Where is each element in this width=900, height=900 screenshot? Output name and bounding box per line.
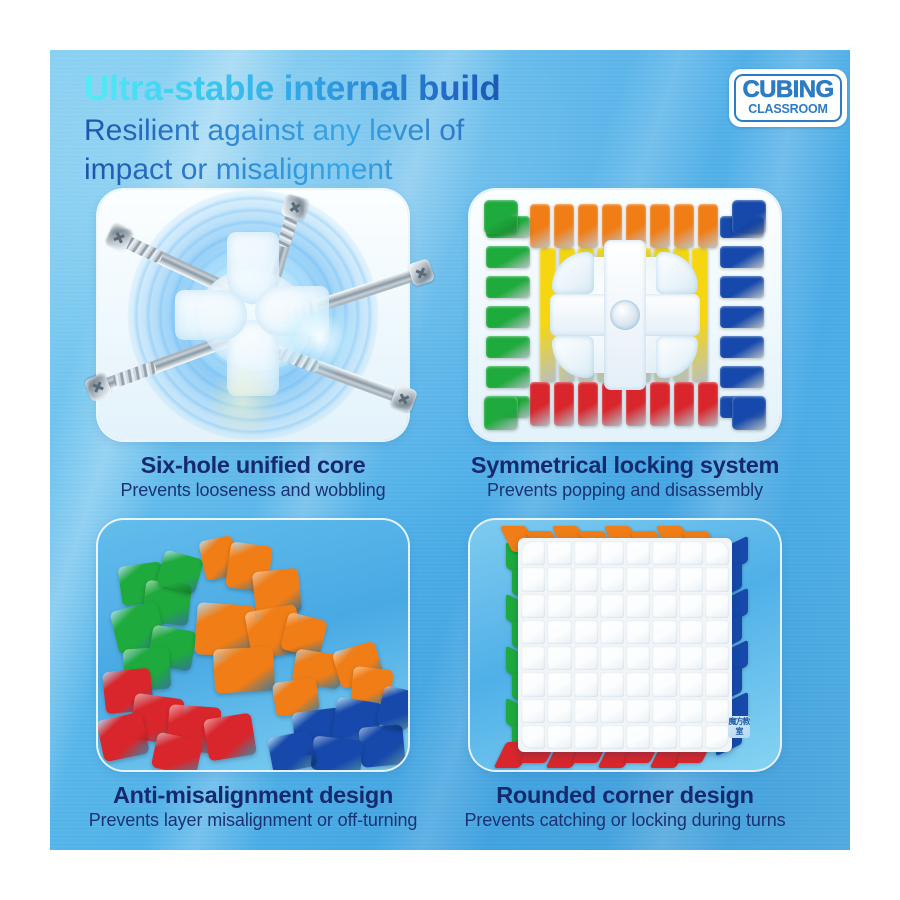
cube-tile [600, 567, 624, 591]
cube-tile [679, 541, 703, 565]
cube-tile [626, 541, 650, 565]
core-lobe-left [175, 290, 247, 340]
caption-title: Six-hole unified core [78, 452, 428, 478]
cube-tile [600, 541, 624, 565]
cube-tile [626, 672, 650, 696]
cube-tile [547, 646, 571, 670]
brand-logo-badge: CUBING CLASSROOM [734, 74, 842, 122]
rounded-corner-photo: 魔方教室 [470, 520, 780, 770]
cube-tile [547, 620, 571, 644]
exploded-cube-piece [486, 366, 530, 388]
exploded-cube-piece [486, 276, 530, 298]
exploded-cube-piece [650, 382, 670, 426]
cube-tile [679, 567, 703, 591]
cube-tile [574, 646, 598, 670]
cube-tile [521, 672, 545, 696]
cube-tile [574, 594, 598, 618]
caption-rounded-corner: Rounded corner design Prevents catching … [450, 782, 800, 832]
brand-logo-line-1: CUBING [742, 79, 833, 102]
exploded-cube-piece [732, 200, 766, 234]
caption-subtitle: Prevents layer misalignment or off-turni… [78, 810, 428, 832]
cube-tile [705, 567, 729, 591]
subtitle-line-1: Resilient against any level of [84, 111, 704, 150]
scattered-cube-piece [310, 735, 363, 770]
cube-tile [574, 541, 598, 565]
cube-tile [705, 725, 729, 749]
caption-symmetrical-locking: Symmetrical locking system Prevents popp… [450, 452, 800, 502]
exploded-cube-piece [530, 204, 550, 248]
cube-core-body [193, 246, 313, 384]
cube-tile [626, 725, 650, 749]
cube-tile [600, 672, 624, 696]
caption-subtitle: Prevents popping and disassembly [450, 480, 800, 502]
cube-tile [705, 620, 729, 644]
cube-tile [574, 672, 598, 696]
cube-tile [521, 699, 545, 723]
cube-tile [600, 646, 624, 670]
page-subtitle: Resilient against any level of impact or… [84, 111, 704, 189]
cube-tile [652, 672, 676, 696]
cube-tile [652, 567, 676, 591]
cube-tile [705, 594, 729, 618]
caption-subtitle: Prevents catching or locking during turn… [450, 810, 800, 832]
cube-tile [652, 646, 676, 670]
exploded-cube-piece [720, 306, 764, 328]
cube-tile [547, 672, 571, 696]
locking-hub [610, 300, 640, 330]
caption-title: Anti-misalignment design [78, 782, 428, 808]
cube-tile [574, 567, 598, 591]
caption-subtitle: Prevents looseness and wobbling [78, 480, 428, 502]
exploded-cube-piece [720, 276, 764, 298]
subtitle-line-2: impact or misalignment [84, 150, 704, 189]
cube-tile [547, 725, 571, 749]
cube-tile [521, 541, 545, 565]
exploded-cube-piece [720, 246, 764, 268]
cube-tile [547, 699, 571, 723]
symmetrical-locking-photo [470, 190, 780, 440]
feature-card-rounded-corner: 魔方教室 Rounded corner design Prevents catc… [450, 520, 800, 832]
feature-card-anti-misalignment: Anti-misalignment design Prevents layer … [78, 520, 428, 832]
cube-tile [679, 725, 703, 749]
cube-tile [574, 725, 598, 749]
brand-logo-line-2: CLASSROOM [748, 103, 827, 117]
cube-tile [521, 646, 545, 670]
scattered-cube-piece [267, 730, 317, 770]
exploded-cube-piece [698, 204, 718, 248]
exploded-cube-piece [674, 382, 694, 426]
scattered-cube-piece [213, 646, 275, 693]
scattered-cube-piece [98, 712, 150, 763]
cube-tile [626, 567, 650, 591]
cube-tile [547, 541, 571, 565]
exploded-cube-piece [486, 246, 530, 268]
cube-tile [574, 620, 598, 644]
cube-tile [679, 699, 703, 723]
cube-tile [521, 594, 545, 618]
product-feature-graphic: Ultra-stable internal build Resilient ag… [0, 0, 900, 900]
cube-tile [600, 725, 624, 749]
cube-tile [679, 646, 703, 670]
exploded-cube-piece [674, 204, 694, 248]
cube-tile [600, 699, 624, 723]
cube-tile [547, 594, 571, 618]
cube-tile [679, 672, 703, 696]
cube-tile [600, 594, 624, 618]
cube-photo-backdrop: 魔方教室 [470, 520, 780, 770]
exploded-cube-piece [650, 204, 670, 248]
cube-tile [679, 620, 703, 644]
caption-anti-misalignment: Anti-misalignment design Prevents layer … [78, 782, 428, 832]
blue-panel: Ultra-stable internal build Resilient ag… [50, 50, 850, 850]
cube-tile [652, 594, 676, 618]
exploded-cube-piece [578, 204, 598, 248]
scattered-cube-pieces [98, 520, 408, 770]
feature-card-symmetrical-locking: Symmetrical locking system Prevents popp… [450, 190, 800, 502]
cube-tile [705, 541, 729, 565]
cube-tile [600, 620, 624, 644]
cube-tile [547, 567, 571, 591]
cube-tile [521, 567, 545, 591]
exploded-cube-piece [554, 382, 574, 426]
exploded-cube-piece [486, 336, 530, 358]
exploded-cube-piece [720, 336, 764, 358]
exploded-cube-piece [484, 396, 518, 430]
cube-tile [574, 699, 598, 723]
cube-tile [652, 725, 676, 749]
caption-title: Symmetrical locking system [450, 452, 800, 478]
cube-tile [626, 699, 650, 723]
cube-tile [705, 672, 729, 696]
cube-white-face [518, 538, 732, 752]
caption-title: Rounded corner design [450, 782, 800, 808]
cube-brand-stamp: 魔方教室 [728, 716, 750, 738]
headline-block: Ultra-stable internal build Resilient ag… [84, 68, 704, 189]
exploded-cube-piece [720, 366, 764, 388]
cube-tile [626, 646, 650, 670]
exploded-cube-piece [698, 382, 718, 426]
cube-tile [652, 620, 676, 644]
anti-misalignment-photo [98, 520, 408, 770]
scattered-cube-piece [203, 713, 257, 762]
exploded-cube-piece [486, 306, 530, 328]
exploded-cube-piece [484, 200, 518, 234]
cube-tile [626, 594, 650, 618]
cube-tile [626, 620, 650, 644]
cube-tile [679, 594, 703, 618]
exploded-cube-piece [578, 382, 598, 426]
exploded-layer-diagram [470, 190, 780, 440]
cube-tile [521, 620, 545, 644]
cube-tile [705, 646, 729, 670]
scattered-cube-piece [358, 724, 405, 768]
page-title: Ultra-stable internal build [84, 68, 704, 109]
cube-tile [521, 725, 545, 749]
cube-tile [705, 699, 729, 723]
core-lobe-right [255, 286, 329, 336]
brand-logo: CUBING CLASSROOM [729, 69, 847, 127]
exploded-cube-piece [732, 396, 766, 430]
caption-six-hole-core: Six-hole unified core Prevents looseness… [78, 452, 428, 502]
cube-tile [652, 541, 676, 565]
six-hole-core-photo [98, 190, 408, 440]
exploded-cube-piece [530, 382, 550, 426]
exploded-cube-piece [554, 204, 574, 248]
cube-tile [652, 699, 676, 723]
feature-card-six-hole-core: Six-hole unified core Prevents looseness… [78, 190, 428, 502]
